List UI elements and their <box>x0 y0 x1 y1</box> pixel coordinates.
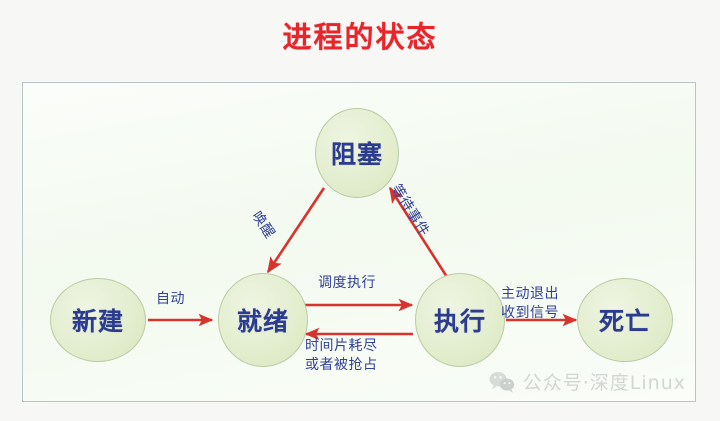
edge-label-timeslice-line1: 时间片耗尽 <box>305 337 378 356</box>
diagram-root: 进程的状态 新建 就绪 执行 阻塞 死亡 自动 <box>0 0 720 421</box>
state-node-running-label: 执行 <box>434 302 486 338</box>
edge-label-exit-line2: 收到信号 <box>501 304 559 323</box>
state-node-dead-label: 死亡 <box>599 302 651 338</box>
state-node-running[interactable]: 执行 <box>415 273 505 367</box>
state-node-blocked-label: 阻塞 <box>331 135 383 171</box>
edge-label-exit-line1: 主动退出 <box>501 285 559 304</box>
state-node-ready-label: 就绪 <box>237 302 289 338</box>
watermark: 公众号·深度Linux <box>489 368 686 395</box>
edge-label-schedule: 调度执行 <box>318 272 376 292</box>
edge-label-auto: 自动 <box>156 288 185 308</box>
state-node-new[interactable]: 新建 <box>50 278 146 362</box>
watermark-text: 公众号·深度Linux <box>523 368 686 395</box>
state-node-dead[interactable]: 死亡 <box>577 278 673 362</box>
state-node-blocked[interactable]: 阻塞 <box>315 108 399 198</box>
edge-label-timeslice-line2: 或者被抢占 <box>305 356 378 375</box>
edge-label-exit: 主动退出 收到信号 <box>501 285 559 323</box>
edge-label-timeslice: 时间片耗尽 或者被抢占 <box>305 337 378 375</box>
state-node-new-label: 新建 <box>72 302 124 338</box>
state-node-ready[interactable]: 就绪 <box>218 273 308 367</box>
wechat-icon <box>489 371 515 393</box>
